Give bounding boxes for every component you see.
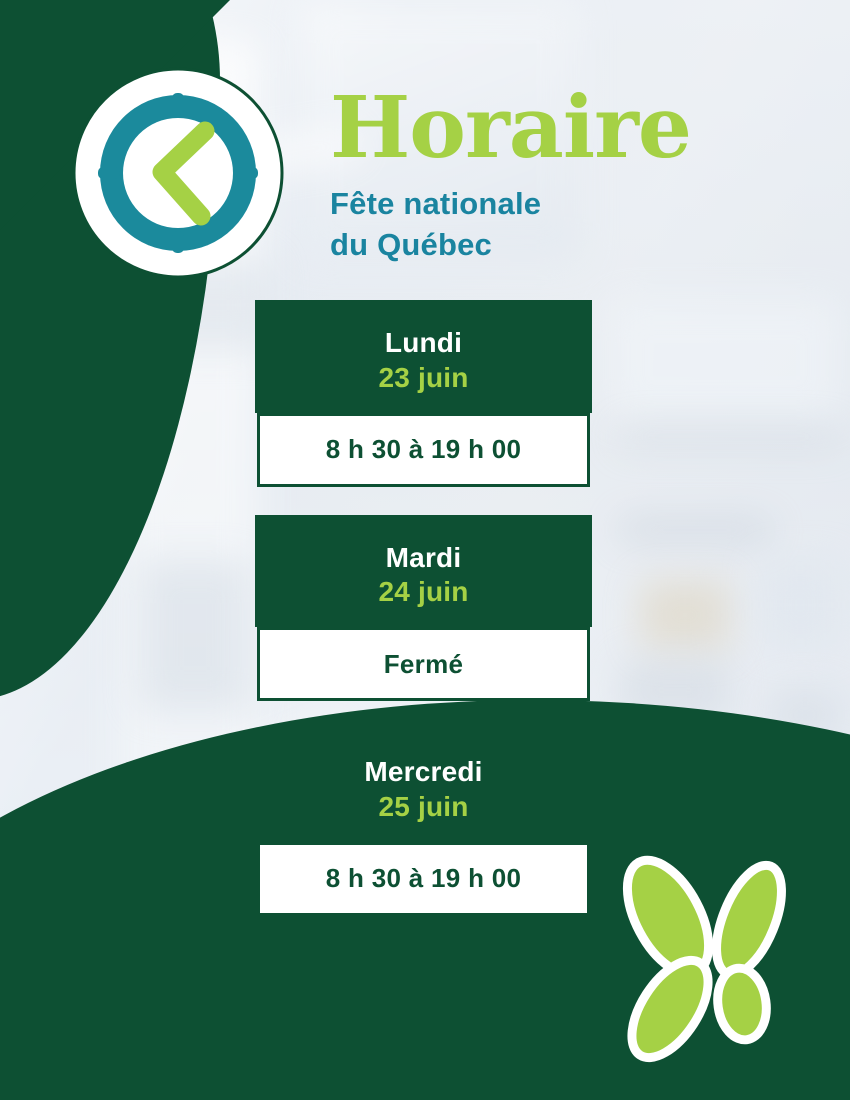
schedule-hours-value: 8 h 30 à 19 h 00 <box>326 434 522 465</box>
schedule-poster: Horaire Fête nationale du Québec Lundi 2… <box>0 0 850 1100</box>
schedule-date-label: 23 juin <box>265 360 582 395</box>
background-blur-shape <box>640 580 730 650</box>
page-title: Horaire <box>330 88 750 169</box>
background-blur-shape <box>760 560 840 650</box>
schedule-list: Lundi 23 juin 8 h 30 à 19 h 00 Mardi 24 … <box>255 300 592 944</box>
schedule-hours-value: 8 h 30 à 19 h 00 <box>326 863 522 894</box>
butterfly-logo-icon <box>612 852 812 1064</box>
schedule-day-label: Mercredi <box>265 755 582 789</box>
background-blur-shape <box>610 300 840 420</box>
schedule-card-header: Mardi 24 juin <box>255 515 592 628</box>
schedule-card-body: Fermé <box>257 627 590 701</box>
schedule-card: Mardi 24 juin Fermé <box>255 515 592 702</box>
schedule-date-label: 25 juin <box>265 789 582 824</box>
schedule-hours-value: Fermé <box>384 649 464 680</box>
schedule-card-body: 8 h 30 à 19 h 00 <box>257 842 590 916</box>
heading-block: Horaire Fête nationale du Québec <box>330 88 750 265</box>
schedule-card-header: Lundi 23 juin <box>255 300 592 413</box>
schedule-card: Mercredi 25 juin 8 h 30 à 19 h 00 <box>255 729 592 916</box>
schedule-day-label: Lundi <box>265 326 582 360</box>
page-subtitle: Fête nationale du Québec <box>330 183 750 265</box>
schedule-date-label: 24 juin <box>265 574 582 609</box>
schedule-card-header: Mercredi 25 juin <box>255 729 592 842</box>
schedule-day-label: Mardi <box>265 541 582 575</box>
schedule-card: Lundi 23 juin 8 h 30 à 19 h 00 <box>255 300 592 487</box>
background-blur-shape <box>140 560 250 710</box>
schedule-card-body: 8 h 30 à 19 h 00 <box>257 413 590 487</box>
background-blur-shape <box>620 430 840 444</box>
subtitle-line-2: du Québec <box>330 227 492 262</box>
background-blur-shape <box>620 520 770 540</box>
clock-icon <box>72 67 284 279</box>
subtitle-line-1: Fête nationale <box>330 186 541 221</box>
